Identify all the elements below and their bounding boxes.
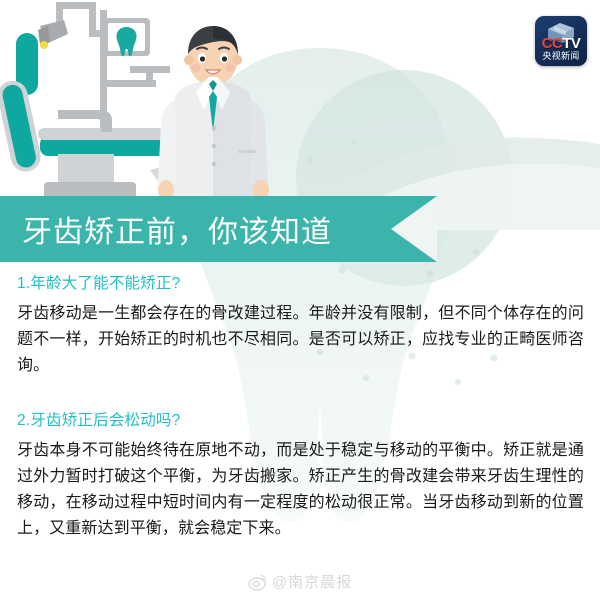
dentist-scene-illustration [0, 0, 470, 200]
poster-page: CCTV 央视新闻 牙齿矫正前，你该知道 1.年龄大了能不能矫正? 牙齿移动是一… [0, 0, 600, 600]
dental-lamp-icon [38, 20, 68, 49]
cctv-subtitle: 央视新闻 [542, 52, 579, 62]
monitor-screen [103, 18, 150, 56]
qa-body-1: 牙齿移动是一生都会存在的骨改建过程。年龄并没有限制，但不同个体存在的问题不一样，… [17, 301, 584, 379]
cctv-tv-text: TV [562, 35, 580, 52]
qa-section-1: 1.年龄大了能不能矫正? 牙齿移动是一生都会存在的骨改建过程。年龄并没有限制，但… [17, 272, 584, 379]
qa-heading-1: 1.年龄大了能不能矫正? [17, 272, 584, 295]
article-content: 1.年龄大了能不能矫正? 牙齿移动是一生都会存在的骨改建过程。年龄并没有限制，但… [0, 272, 600, 558]
cctv-logo: CCTV 央视新闻 [535, 16, 587, 66]
banner-arrow-notch [377, 196, 437, 262]
section-gap [17, 395, 584, 409]
cctv-cc-text: CC [542, 35, 563, 52]
qa-body-2: 牙齿本身不可能始终待在原地不动，而是处于稳定与移动的平衡中。矫正就是通过外力暂时… [17, 438, 584, 542]
qa-heading-2: 2.牙齿矫正后会松动吗? [17, 409, 584, 432]
qa-section-2: 2.牙齿矫正后会松动吗? 牙齿本身不可能始终待在原地不动，而是处于稳定与移动的平… [17, 409, 584, 542]
cctv-wordmark: CCTV [542, 36, 581, 51]
page-title: 牙齿矫正前，你该知道 [22, 196, 332, 262]
dentist-character [158, 26, 269, 200]
